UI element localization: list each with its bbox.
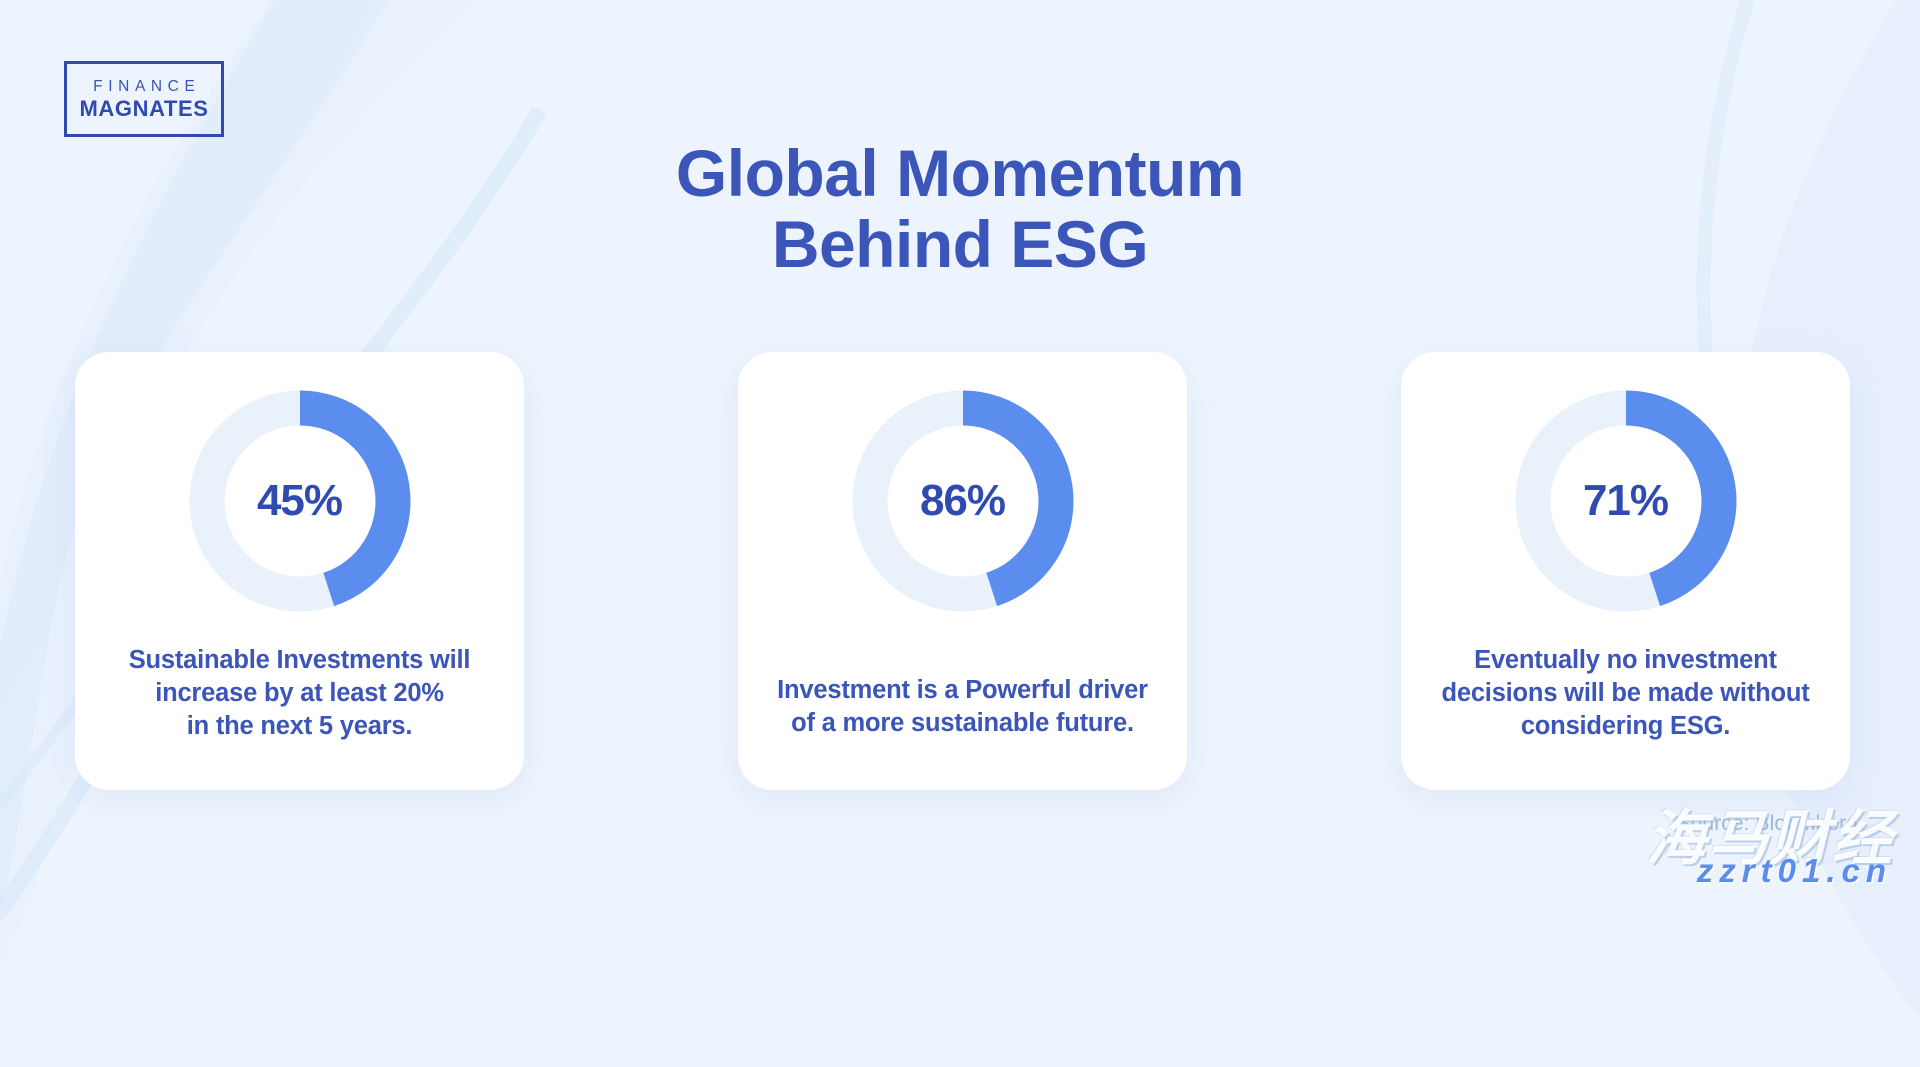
page-title-line-1: Global Momentum [0, 138, 1920, 209]
donut-percent-label: 45% [185, 386, 415, 616]
caption-line: Sustainable Investments will [129, 646, 471, 674]
brand-logo: FINANCE MAGNATES [64, 61, 224, 137]
donut-chart: 45% [185, 386, 415, 616]
logo-text-finance: FINANCE [88, 77, 201, 96]
caption-line: considering ESG. [1521, 712, 1730, 740]
page-title: Global Momentum Behind ESG [0, 138, 1920, 281]
source-attribution: Source: Bloomberg [1677, 812, 1858, 836]
donut-percent-label: 86% [848, 386, 1078, 616]
site-watermark: 海马财经 zzrt01.cn [1522, 790, 1902, 900]
stat-card-caption: Eventually no investment decisions will … [1401, 644, 1850, 743]
stat-card-row: 45% Sustainable Investments will increas… [75, 352, 1850, 790]
stat-card: 86% Investment is a Powerful driver of a… [738, 352, 1187, 790]
caption-line: of a more sustainable future. [791, 709, 1134, 737]
caption-line: increase by at least 20% [155, 679, 444, 707]
caption-line: Investment is a Powerful driver [777, 676, 1148, 704]
donut-chart: 71% [1511, 386, 1741, 616]
caption-line: Eventually no investment [1474, 646, 1777, 674]
donut-percent-label: 71% [1511, 386, 1741, 616]
stat-card-caption: Investment is a Powerful driver of a mor… [738, 674, 1187, 740]
logo-text-magnates: MAGNATES [79, 96, 208, 121]
caption-line: in the next 5 years. [187, 712, 413, 740]
stat-card: 45% Sustainable Investments will increas… [75, 352, 524, 790]
page-title-line-2: Behind ESG [0, 209, 1920, 280]
donut-chart: 86% [848, 386, 1078, 616]
stat-card-caption: Sustainable Investments will increase by… [75, 644, 524, 743]
caption-line: decisions will be made without [1441, 679, 1809, 707]
watermark-url-text: zzrt01.cn [1697, 852, 1892, 890]
stat-card: 71% Eventually no investment decisions w… [1401, 352, 1850, 790]
